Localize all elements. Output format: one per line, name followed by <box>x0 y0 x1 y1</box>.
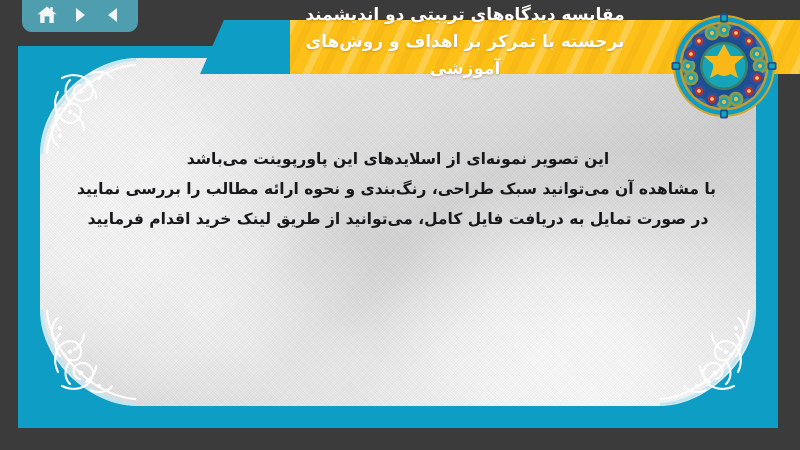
persian-medallion-ornament <box>670 12 778 120</box>
content-card-surface: این تصویر نمونه‌ای از اسلایدهای این پاور… <box>40 58 756 406</box>
body-line-2: با مشاهده آن می‌توانید سبک طراحی، رنگ‌بن… <box>80 174 716 204</box>
body-line-3: در صورت تمایل به دریافت فایل کامل، می‌تو… <box>80 204 716 234</box>
slide-canvas: مقایسه دیدگاه‌های تربیتی دو اندیشمند برج… <box>0 0 800 450</box>
arabesque-corner-ornament-top-left <box>40 58 136 154</box>
next-slide-button[interactable] <box>67 3 93 27</box>
triangle-left-icon <box>103 5 123 25</box>
home-button[interactable] <box>34 3 60 27</box>
slide-body-text: این تصویر نمونه‌ای از اسلایدهای این پاور… <box>80 144 716 234</box>
home-icon <box>36 5 58 25</box>
banner-teal-tab <box>200 20 292 74</box>
content-card-frame: این تصویر نمونه‌ای از اسلایدهای این پاور… <box>18 46 778 428</box>
previous-slide-button[interactable] <box>100 3 126 27</box>
arabesque-corner-ornament-bottom-left <box>40 310 136 406</box>
triangle-right-icon <box>70 5 90 25</box>
body-line-1: این تصویر نمونه‌ای از اسلایدهای این پاور… <box>80 144 716 174</box>
arabesque-corner-ornament-bottom-right <box>660 310 756 406</box>
slide-navigation-bar <box>22 0 138 32</box>
